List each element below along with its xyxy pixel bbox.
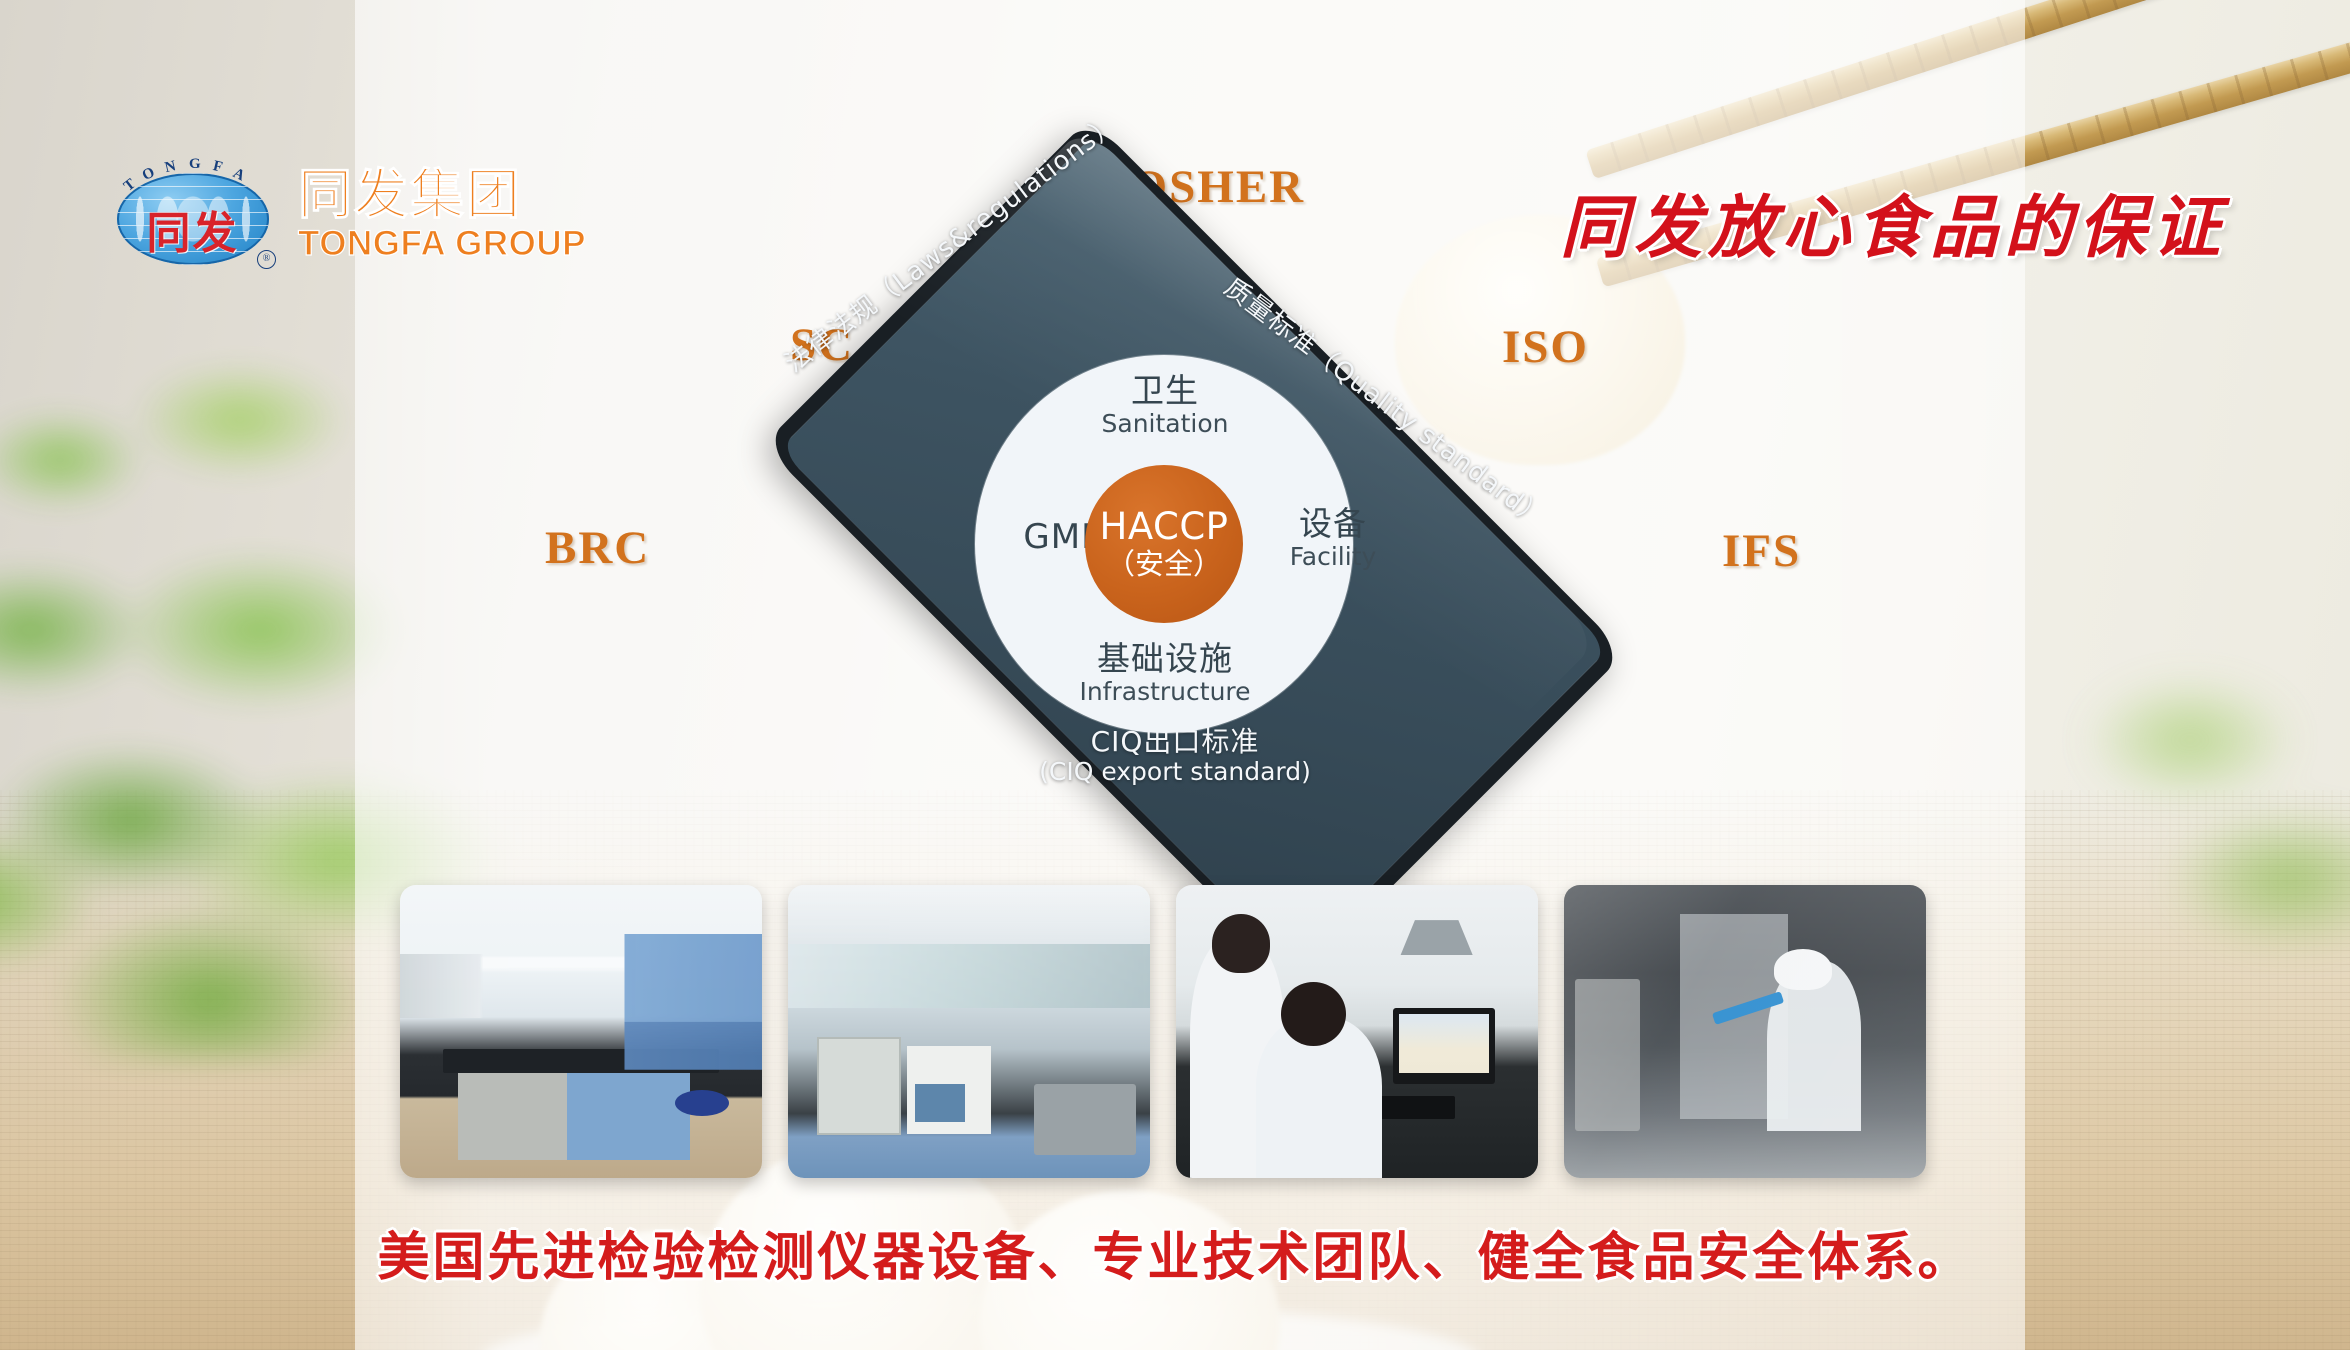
diamond-bottom-label: CIQ出口标准 (CIQ export standard) (0, 726, 2350, 787)
pillar-sanitation-cn: 卫生 (1075, 372, 1255, 410)
poster-canvas: T O N G F A 同发 ® 同发集团 TONGFA GROUP 同发放心食… (0, 0, 2350, 1350)
photo-strip (400, 885, 1926, 1178)
background-plant-right (1990, 620, 2350, 1040)
haccp-core-circle: HACCP （安全） (1085, 465, 1243, 623)
photo-instrument-room[interactable] (788, 885, 1150, 1178)
pillar-infrastructure-en: Infrastructure (1070, 678, 1260, 707)
logo-globe-cn: 同发 (105, 197, 280, 261)
cert-label-ifs: IFS (1722, 524, 1801, 578)
photo-cleanroom-inspection[interactable] (1564, 885, 1926, 1178)
pillar-infrastructure: 基础设施 Infrastructure (1070, 640, 1260, 707)
bottom-caption: 美国先进检验检测仪器设备、专业技术团队、健全食品安全体系。 (0, 1215, 2350, 1290)
photo-chemistry-lab[interactable] (400, 885, 762, 1178)
globe-icon: T O N G F A 同发 ® (105, 155, 280, 273)
cert-label-brc: BRC (545, 521, 650, 575)
brand-logo[interactable]: T O N G F A 同发 ® 同发集团 TONGFA GROUP (105, 155, 586, 273)
ciq-label-en: (CIQ export standard) (0, 758, 2350, 787)
brand-name-en: TONGFA GROUP (298, 226, 586, 261)
pillar-facility-cn: 设备 (1268, 505, 1398, 543)
pillar-facility: 设备 Facility (1268, 505, 1398, 572)
brand-name-cn: 同发集团 (298, 168, 586, 222)
pillar-infrastructure-cn: 基础设施 (1070, 640, 1260, 678)
haccp-core-title: HACCP (1100, 507, 1229, 548)
pillar-sanitation-en: Sanitation (1075, 410, 1255, 439)
photo-technicians-computer[interactable] (1176, 885, 1538, 1178)
pillar-facility-en: Facility (1268, 543, 1398, 572)
haccp-core-subtitle: （安全） (1106, 549, 1222, 581)
pillar-sanitation: 卫生 Sanitation (1075, 372, 1255, 439)
